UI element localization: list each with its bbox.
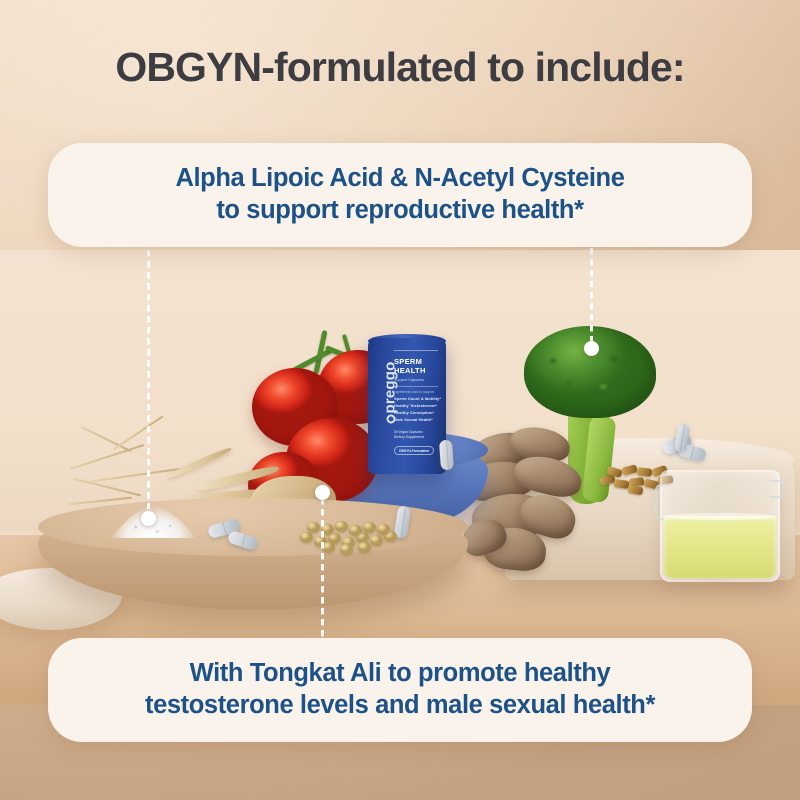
label-divider-secondary	[394, 386, 438, 387]
product-lead-in: Ingredients used to support	[394, 390, 444, 394]
glass-clasp-right	[769, 480, 785, 498]
benefit-item: Healthy Conception*	[394, 410, 444, 417]
oil-glass-jar	[660, 470, 780, 582]
product-badge: OBGYN-Formulated	[394, 446, 434, 455]
callout-card-tongkat-ali: With Tongkat Ali to promote healthytesto…	[48, 638, 752, 742]
product-photo-scene: preggo SPERMHEALTH Support Capsules Ingr…	[0, 250, 800, 705]
benefit-item: Sperm Count & Motility*	[394, 396, 444, 403]
page-title: OBGYN-formulated to include:	[0, 44, 800, 91]
connector-line-powder	[147, 250, 150, 512]
label-divider	[394, 350, 438, 351]
connector-dot-ginseng	[315, 485, 330, 500]
product-count: 30 Vegan CapsulesDietary Supplement	[394, 430, 444, 440]
connector-line-ginseng	[321, 498, 324, 646]
benefit-item: Male Sexual Health*	[394, 417, 444, 424]
product-title: SPERMHEALTH	[394, 358, 442, 376]
connector-line-broccoli	[590, 248, 593, 352]
oil-liquid	[664, 516, 776, 578]
product-jar[interactable]: preggo SPERMHEALTH Support Capsules Ingr…	[368, 338, 446, 474]
connector-dot-powder	[141, 511, 156, 526]
capsule	[439, 440, 454, 471]
callout-text-alpha-lipoic: Alpha Lipoic Acid & N-Acetyl Cysteineto …	[151, 163, 648, 226]
benefit-item: Healthy Testosterone*	[394, 403, 444, 410]
callout-text-tongkat-ali: With Tongkat Ali to promote healthytesto…	[121, 658, 679, 721]
connector-dot-broccoli	[584, 341, 599, 356]
product-subtitle: Support Capsules	[394, 378, 442, 382]
soy-beans-ingredient	[296, 518, 406, 552]
product-benefit-list: Sperm Count & Motility* Healthy Testoste…	[394, 396, 444, 424]
callout-card-alpha-lipoic: Alpha Lipoic Acid & N-Acetyl Cysteineto …	[48, 143, 752, 247]
